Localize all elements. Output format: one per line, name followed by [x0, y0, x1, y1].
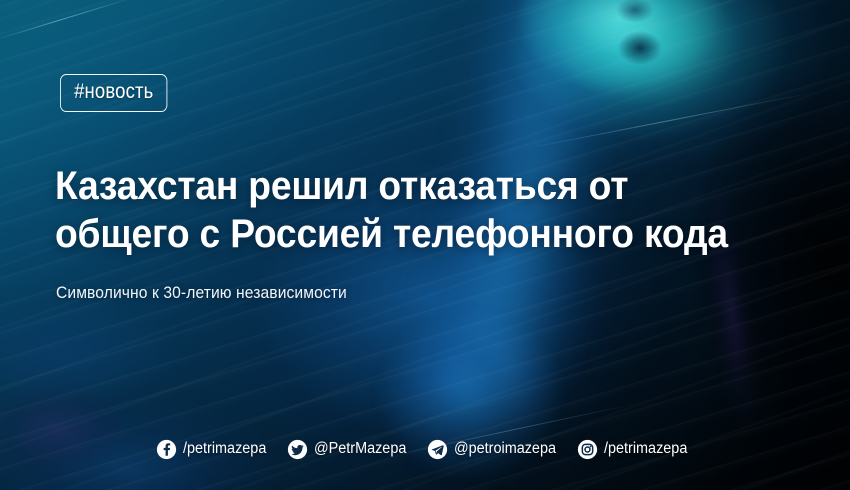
social-link-twitter[interactable]: @PetrMazepa [287, 439, 413, 460]
twitter-icon [287, 439, 308, 460]
social-link-facebook[interactable]: /petrimazepa [156, 439, 273, 460]
card-content: #новость Казахстан решил отказаться от о… [0, 0, 850, 490]
instagram-icon [577, 439, 598, 460]
social-handle-facebook: /petrimazepa [183, 440, 266, 458]
news-card: #новость Казахстан решил отказаться от о… [0, 0, 850, 490]
social-handle-telegram: @petroimazepa [454, 440, 556, 458]
subtitle-text: Символично к 30-летию независимости [56, 283, 347, 303]
social-link-instagram[interactable]: /petrimazepa [577, 439, 694, 460]
social-handle-instagram: /petrimazepa [604, 440, 687, 458]
telegram-icon [427, 439, 448, 460]
social-handle-twitter: @PetrMazepa [314, 440, 406, 458]
social-links-row: /petrimazepa @PetrMazepa @petroimazepa [0, 434, 850, 464]
social-link-telegram[interactable]: @petroimazepa [427, 439, 564, 460]
headline-text: Казахстан решил отказаться от общего с Р… [55, 162, 762, 258]
facebook-icon [156, 439, 177, 460]
category-tag-badge[interactable]: #новость [60, 74, 168, 112]
